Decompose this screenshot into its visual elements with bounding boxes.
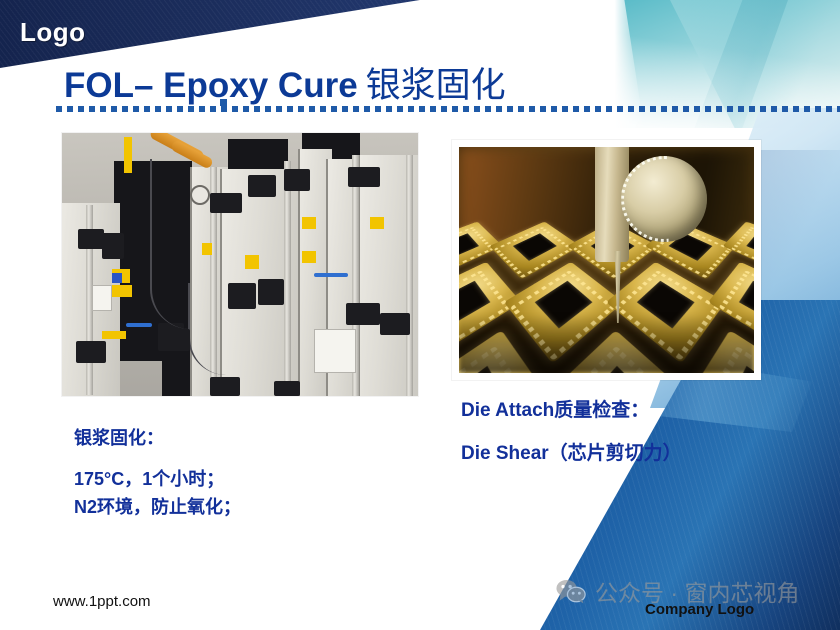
oven-label-7 — [302, 251, 316, 263]
left-caption-title: 银浆固化： — [74, 425, 164, 452]
oven-label-3 — [112, 285, 132, 297]
oven-rail-3 — [284, 161, 291, 396]
oven-rail-5 — [406, 155, 413, 396]
oven-label-5 — [245, 255, 259, 269]
logo-placeholder[interactable]: Logo — [20, 17, 86, 48]
oven-clamp-3 — [76, 341, 106, 363]
left-caption-line-2: N2环境，防止氧化； — [74, 494, 241, 522]
oven-clamp-4 — [210, 193, 242, 213]
oven-yellow-cable — [124, 137, 132, 173]
die-foreground-blur — [459, 314, 754, 373]
epoxy-cure-oven-photo — [62, 133, 418, 396]
oven-clamp-5 — [248, 175, 276, 197]
oven-clamp-2 — [102, 233, 124, 259]
oven-label-2 — [112, 273, 122, 283]
oven-clamp-11 — [380, 313, 410, 335]
oven-small-tag — [92, 285, 112, 311]
footer-url[interactable]: www.1ppt.com — [53, 593, 151, 610]
oven-clamp-6 — [284, 169, 310, 191]
oven-clamp-1 — [78, 229, 104, 249]
slide-title: FOL– Epoxy Cure银浆固化 — [64, 57, 506, 108]
footer-company-logo: Company Logo — [645, 601, 754, 618]
oven-label-4 — [102, 331, 126, 339]
oven-label-8 — [202, 243, 212, 255]
oven-clamp-10 — [346, 303, 380, 325]
title-dotted-rule-tick — [220, 99, 227, 106]
oven-blue-tube-1 — [126, 323, 152, 327]
oven-clamp-7 — [228, 283, 256, 309]
oven-label-9 — [370, 217, 384, 229]
oven-clamp-13 — [274, 381, 300, 396]
right-caption-line-1: Die Shear（芯片剪切力） — [461, 440, 682, 469]
title-dotted-rule — [56, 106, 840, 112]
oven-scene — [62, 133, 418, 396]
die-shear-test-photo — [452, 140, 761, 380]
left-caption-line-1: 175°C，1个小时； — [74, 466, 241, 494]
slide-title-chinese: 银浆固化 — [366, 66, 506, 105]
die-scene — [459, 147, 754, 373]
oven-label-6 — [302, 217, 316, 229]
oven-instruction-sheet — [314, 329, 356, 373]
oven-valve-block — [158, 329, 190, 351]
right-caption-title: Die Attach质量检查： — [461, 397, 649, 426]
oven-clamp-9 — [348, 167, 380, 187]
oven-clamp-8 — [258, 279, 284, 305]
slide-title-english: FOL– Epoxy Cure — [64, 66, 358, 105]
oven-blue-tube-2 — [314, 273, 348, 277]
wechat-icon — [556, 578, 586, 604]
slide-canvas: Logo FOL– Epoxy Cure银浆固化 — [0, 0, 840, 630]
left-caption-body: 175°C，1个小时； N2环境，防止氧化； — [74, 466, 241, 522]
oven-clamp-12 — [210, 377, 240, 396]
